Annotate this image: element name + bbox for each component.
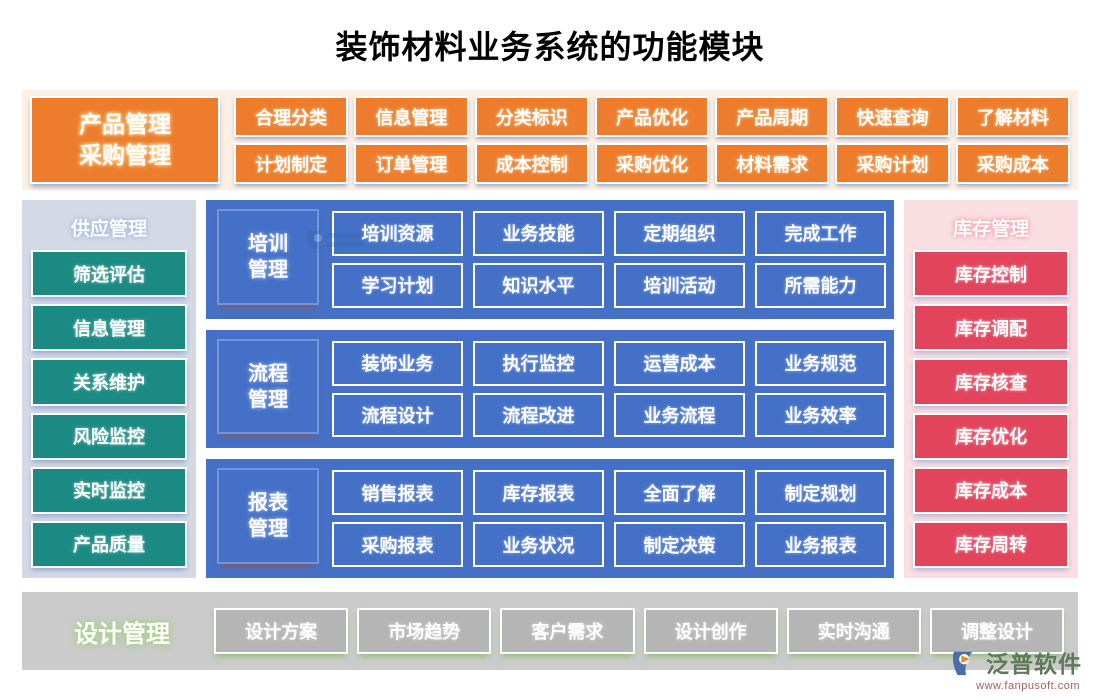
inventory-item[interactable]: 库存核查 [913, 358, 1069, 405]
report-cell[interactable]: 采购报表 [332, 522, 463, 567]
brand-name: 泛普软件 [986, 645, 1082, 679]
design-cell[interactable]: 设计方案 [214, 608, 348, 654]
process-row: 流程设计 流程改进 业务流程 业务效率 [332, 393, 886, 438]
product-cell[interactable]: 分类标识 [475, 96, 589, 137]
block-label-line1: 培训 [248, 231, 288, 257]
purchase-cell[interactable]: 采购优化 [595, 143, 709, 184]
inventory-management-header: 库存管理 [913, 208, 1069, 250]
process-cell[interactable]: 流程改进 [473, 393, 604, 438]
report-cell[interactable]: 业务报表 [755, 522, 886, 567]
product-cell[interactable]: 产品优化 [595, 96, 709, 137]
center-modules: 培训 管理 培训资源 业务技能 定期组织 完成工作 学习计划 知识水平 培训活动… [206, 200, 894, 578]
supply-management-header: 供应管理 [31, 208, 187, 250]
purchase-cell[interactable]: 材料需求 [715, 143, 829, 184]
training-grid: 培训资源 业务技能 定期组织 完成工作 学习计划 知识水平 培训活动 所需能力 [332, 206, 886, 313]
purchase-cell[interactable]: 计划制定 [234, 143, 348, 184]
process-cell[interactable]: 装饰业务 [332, 341, 463, 386]
inventory-item[interactable]: 库存周转 [913, 521, 1069, 568]
design-management-grid: 设计方案 市场趋势 客户需求 设计创作 实时沟通 调整设计 [214, 608, 1064, 654]
training-cell[interactable]: 培训活动 [614, 263, 745, 308]
design-cell[interactable]: 客户需求 [500, 608, 634, 654]
report-management-label[interactable]: 报表 管理 [217, 468, 319, 564]
infographic-page: 装饰材料业务系统的功能模块 产品管理 采购管理 合理分类 信息管理 分类标识 产… [0, 0, 1100, 700]
block-label-line1: 流程 [248, 361, 288, 387]
training-cell[interactable]: 学习计划 [332, 263, 463, 308]
design-cell[interactable]: 市场趋势 [357, 608, 491, 654]
product-cell[interactable]: 信息管理 [354, 96, 468, 137]
block-label-line2: 管理 [248, 387, 288, 413]
band-lead-product-purchase[interactable]: 产品管理 采购管理 [30, 96, 220, 184]
training-cell[interactable]: 知识水平 [473, 263, 604, 308]
supply-item[interactable]: 风险监控 [31, 413, 187, 460]
process-grid: 装饰业务 执行监控 运营成本 业务规范 流程设计 流程改进 业务流程 业务效率 [332, 336, 886, 443]
process-cell[interactable]: 运营成本 [614, 341, 745, 386]
training-row: 学习计划 知识水平 培训活动 所需能力 [332, 263, 886, 308]
process-management-block: 流程 管理 装饰业务 执行监控 运营成本 业务规范 流程设计 流程改进 业务流程… [206, 330, 894, 449]
lead-label-line1: 产品管理 [79, 109, 171, 140]
page-title: 装饰材料业务系统的功能模块 [0, 22, 1100, 68]
supply-item[interactable]: 筛选评估 [31, 250, 187, 297]
training-cell[interactable]: 所需能力 [755, 263, 886, 308]
training-cell[interactable]: 完成工作 [755, 211, 886, 256]
process-management-label[interactable]: 流程 管理 [217, 339, 319, 435]
report-row: 销售报表 库存报表 全面了解 制定规划 [332, 470, 886, 515]
product-purchase-band: 产品管理 采购管理 合理分类 信息管理 分类标识 产品优化 产品周期 快速查询 … [22, 90, 1078, 190]
design-cell[interactable]: 实时沟通 [787, 608, 921, 654]
block-label-line2: 管理 [248, 516, 288, 542]
process-cell[interactable]: 业务规范 [755, 341, 886, 386]
report-cell[interactable]: 制定规划 [755, 470, 886, 515]
process-cell[interactable]: 业务效率 [755, 393, 886, 438]
report-cell[interactable]: 业务状况 [473, 522, 604, 567]
inventory-item[interactable]: 库存调配 [913, 304, 1069, 351]
product-cell[interactable]: 快速查询 [835, 96, 949, 137]
training-row: 培训资源 业务技能 定期组织 完成工作 [332, 211, 886, 256]
inventory-item[interactable]: 库存成本 [913, 467, 1069, 514]
training-cell[interactable]: 业务技能 [473, 211, 604, 256]
purchase-cell[interactable]: 成本控制 [475, 143, 589, 184]
middle-section: 供应管理 筛选评估 信息管理 关系维护 风险监控 实时监控 产品质量 培训 管理… [22, 200, 1078, 578]
supply-item[interactable]: 关系维护 [31, 358, 187, 405]
inventory-management-panel: 库存管理 库存控制 库存调配 库存核查 库存优化 库存成本 库存周转 [904, 200, 1078, 578]
supply-item[interactable]: 产品质量 [31, 521, 187, 568]
inventory-item[interactable]: 库存控制 [913, 250, 1069, 297]
report-cell[interactable]: 全面了解 [614, 470, 745, 515]
process-row: 装饰业务 执行监控 运营成本 业务规范 [332, 341, 886, 386]
product-purchase-grid: 合理分类 信息管理 分类标识 产品优化 产品周期 快速查询 了解材料 计划制定 … [234, 96, 1070, 184]
brand-logo: 泛普软件 www.fanpusoft.com [952, 645, 1082, 692]
product-cell[interactable]: 了解材料 [956, 96, 1070, 137]
process-cell[interactable]: 流程设计 [332, 393, 463, 438]
purchase-cell[interactable]: 采购成本 [956, 143, 1070, 184]
supply-management-list: 筛选评估 信息管理 关系维护 风险监控 实时监控 产品质量 [31, 250, 187, 568]
supply-management-panel: 供应管理 筛选评估 信息管理 关系维护 风险监控 实时监控 产品质量 [22, 200, 196, 578]
purchase-cell[interactable]: 采购计划 [835, 143, 949, 184]
brand-row: 泛普软件 [952, 645, 1082, 679]
product-row: 合理分类 信息管理 分类标识 产品优化 产品周期 快速查询 了解材料 [234, 96, 1070, 137]
process-cell[interactable]: 执行监控 [473, 341, 604, 386]
training-management-label[interactable]: 培训 管理 [217, 209, 319, 305]
lead-label-line2: 采购管理 [79, 140, 171, 171]
training-cell[interactable]: 定期组织 [614, 211, 745, 256]
report-cell[interactable]: 制定决策 [614, 522, 745, 567]
supply-item[interactable]: 实时监控 [31, 467, 187, 514]
inventory-item[interactable]: 库存优化 [913, 413, 1069, 460]
design-management-header: 设计管理 [36, 614, 208, 649]
report-row: 采购报表 业务状况 制定决策 业务报表 [332, 522, 886, 567]
product-cell[interactable]: 合理分类 [234, 96, 348, 137]
inventory-management-list: 库存控制 库存调配 库存核查 库存优化 库存成本 库存周转 [913, 250, 1069, 568]
supply-item[interactable]: 信息管理 [31, 304, 187, 351]
block-label-line1: 报表 [248, 490, 288, 516]
purchase-cell[interactable]: 订单管理 [354, 143, 468, 184]
process-cell[interactable]: 业务流程 [614, 393, 745, 438]
purchase-row: 计划制定 订单管理 成本控制 采购优化 材料需求 采购计划 采购成本 [234, 143, 1070, 184]
report-cell[interactable]: 库存报表 [473, 470, 604, 515]
report-cell[interactable]: 销售报表 [332, 470, 463, 515]
report-grid: 销售报表 库存报表 全面了解 制定规划 采购报表 业务状况 制定决策 业务报表 [332, 465, 886, 572]
design-management-band: 设计管理 设计方案 市场趋势 客户需求 设计创作 实时沟通 调整设计 [22, 592, 1078, 670]
design-cell[interactable]: 设计创作 [644, 608, 778, 654]
block-label-line2: 管理 [248, 257, 288, 283]
training-management-block: 培训 管理 培训资源 业务技能 定期组织 完成工作 学习计划 知识水平 培训活动… [206, 200, 894, 319]
brand-url: www.fanpusoft.com [976, 680, 1080, 692]
report-management-block: 报表 管理 销售报表 库存报表 全面了解 制定规划 采购报表 业务状况 制定决策… [206, 459, 894, 578]
fanpu-logo-icon [952, 647, 982, 677]
product-cell[interactable]: 产品周期 [715, 96, 829, 137]
training-cell[interactable]: 培训资源 [332, 211, 463, 256]
